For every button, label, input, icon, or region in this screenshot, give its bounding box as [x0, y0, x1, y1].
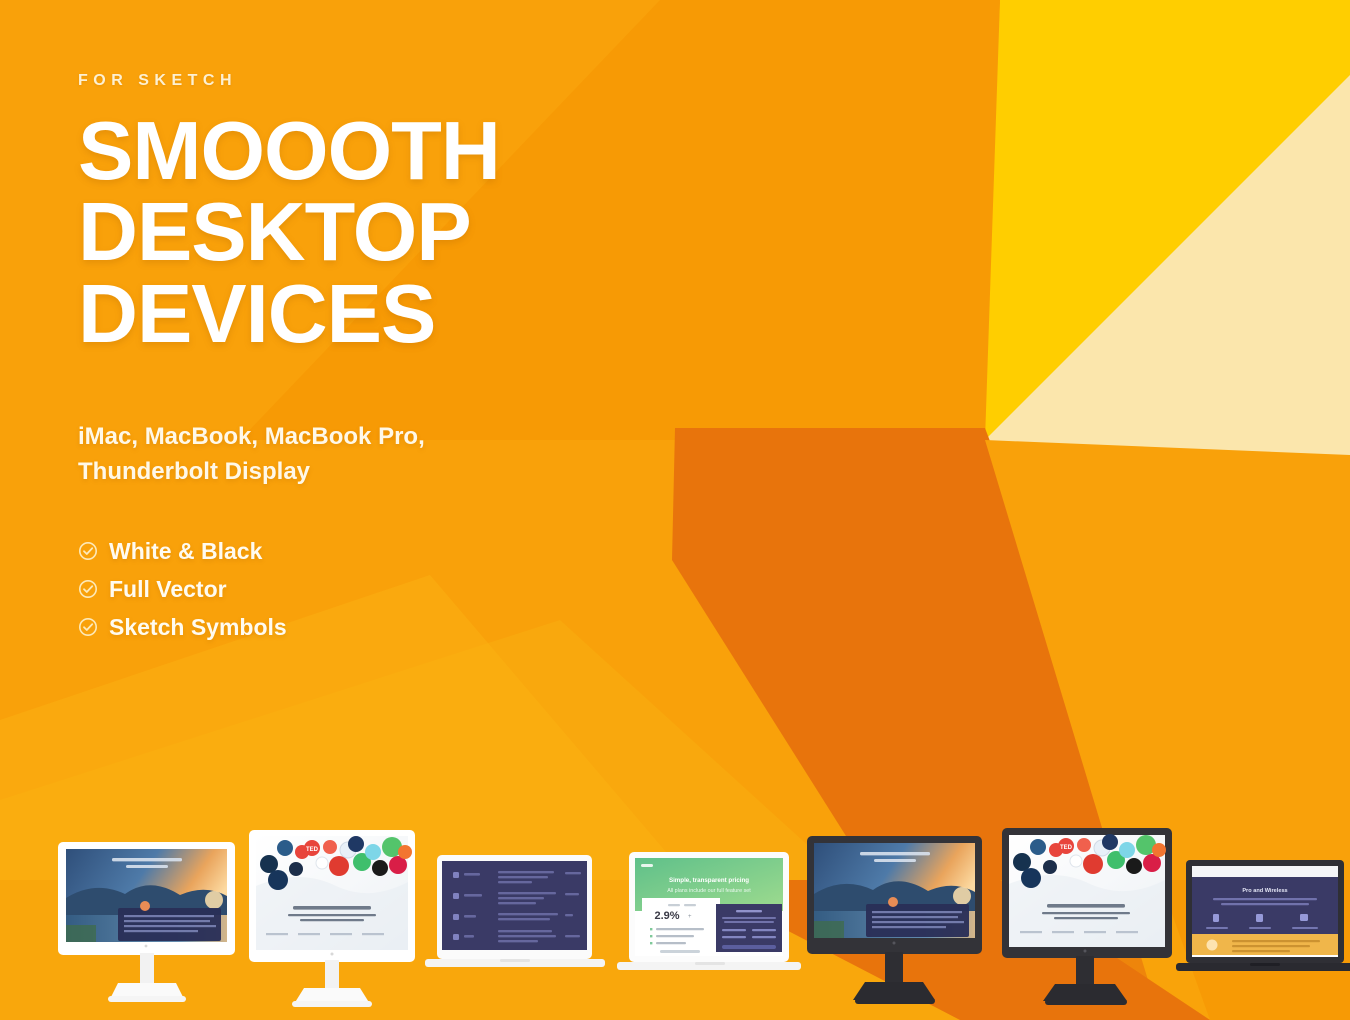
svg-text:2.9%: 2.9% [654, 910, 679, 922]
device-imac-black-logos[interactable]: TED [1002, 828, 1172, 1005]
device-macbook-white-list[interactable] [425, 855, 605, 967]
device-thunderbolt-white-logos[interactable]: TED [249, 830, 415, 1007]
screen-brand-logos: TED [1009, 834, 1166, 947]
feature-item-sketch-symbols: Sketch Symbols [78, 614, 698, 641]
device-thunderbolt-black-landscape[interactable] [807, 836, 982, 1004]
check-circle-icon [78, 617, 98, 637]
screen-brand-logos: TED [256, 836, 412, 950]
device-imac-white-landscape[interactable] [58, 842, 235, 1002]
eyebrow-label: FOR SKETCH [78, 72, 698, 90]
feature-label: White & Black [109, 538, 262, 565]
screen-landscape [814, 843, 975, 938]
svg-text:+: + [688, 914, 692, 920]
feature-item-full-vector: Full Vector [78, 576, 698, 603]
feature-item-white-black: White & Black [78, 538, 698, 565]
check-circle-icon [78, 579, 98, 599]
screen-navy-features: Pro and Wireless [1192, 866, 1338, 957]
screen-landscape [66, 849, 227, 942]
svg-text:Simple, transparent pricing: Simple, transparent pricing [669, 877, 749, 884]
subtitle-line-1: iMac, MacBook, MacBook Pro, [78, 420, 698, 455]
hero-content: FOR SKETCH SMOOOTH DESKTOP DEVICES iMac,… [78, 72, 698, 652]
headline-line-1: SMOOOTH [78, 110, 698, 191]
device-list-subtitle: iMac, MacBook, MacBook Pro, Thunderbolt … [78, 420, 698, 490]
feature-label: Sketch Symbols [109, 614, 287, 641]
feature-list: White & Black Full Vector Sketch Symbols [78, 538, 698, 641]
subtitle-line-2: Thunderbolt Display [78, 455, 698, 490]
svg-text:TED: TED [306, 847, 319, 853]
page-title: SMOOOTH DESKTOP DEVICES [78, 110, 698, 354]
headline-line-2: DESKTOP [78, 191, 698, 272]
device-macbook-pro-white-pricing[interactable]: Simple, transparent pricing All plans in… [617, 852, 801, 970]
devices-svg: TED [0, 820, 1350, 1020]
headline-line-3: DEVICES [78, 273, 698, 354]
device-macbook-pro-black-features[interactable]: Pro and Wireless [1176, 860, 1350, 971]
feature-label: Full Vector [109, 576, 227, 603]
check-circle-icon [78, 541, 98, 561]
device-showcase-row: TED [0, 820, 1350, 1020]
svg-text:Pro and Wireless: Pro and Wireless [1242, 888, 1287, 894]
screen-green-pricing: Simple, transparent pricing All plans in… [635, 858, 783, 956]
svg-text:TED: TED [1060, 845, 1073, 851]
svg-text:All plans include our full fea: All plans include our full feature set [667, 888, 751, 894]
